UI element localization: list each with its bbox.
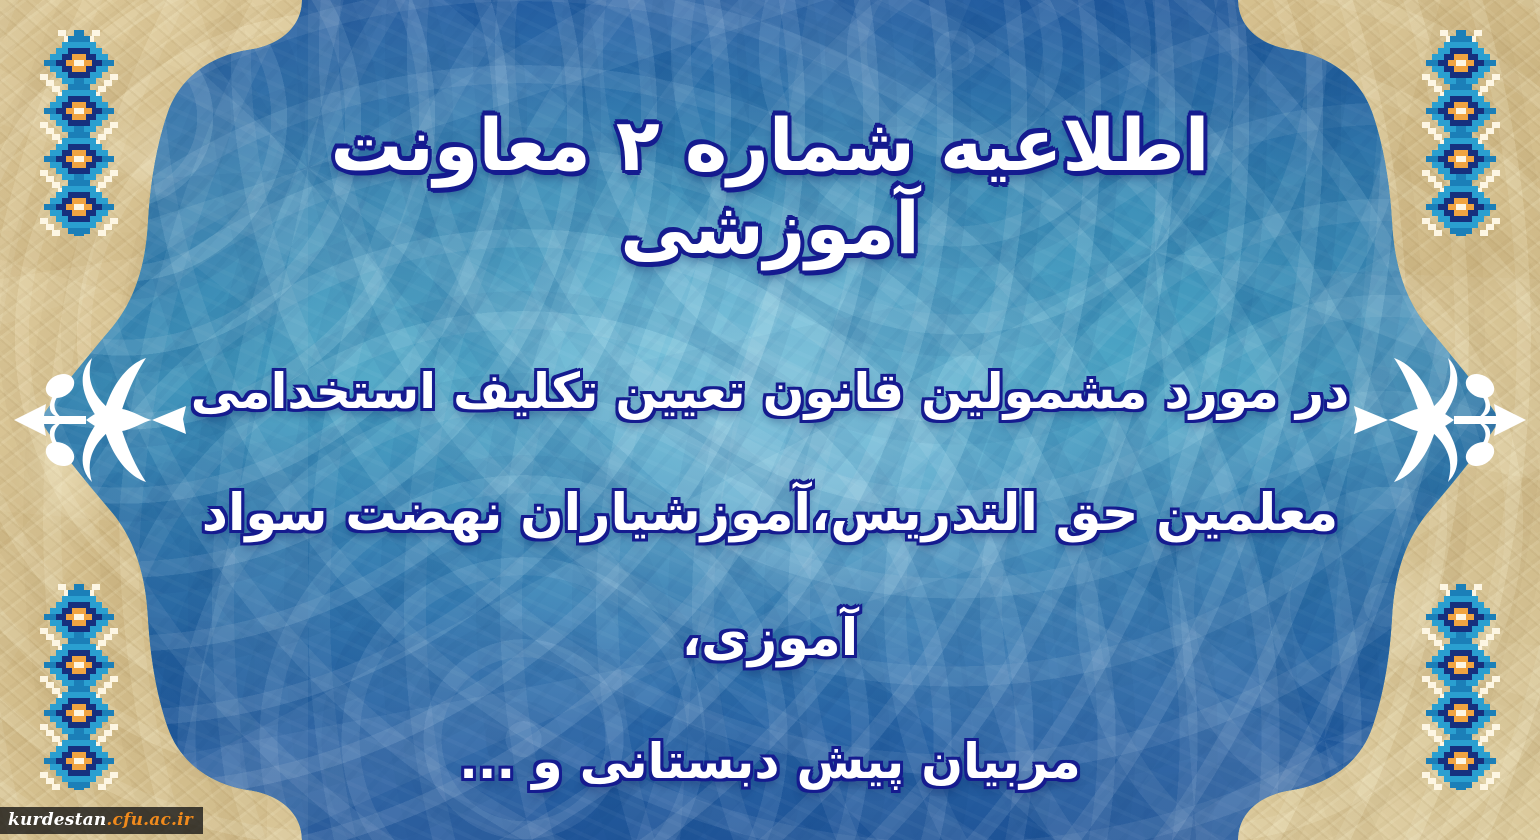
site-watermark: kurdestan.cfu.ac.ir <box>0 807 203 834</box>
watermark-domain: .cfu.ac.ir <box>106 810 193 830</box>
blue-ornamental-panel <box>0 0 1540 840</box>
watermark-name: kurdestan <box>8 810 106 830</box>
poster-canvas: اطلاعیه شماره ۲ معاونت آموزشی در مورد مش… <box>0 0 1540 840</box>
